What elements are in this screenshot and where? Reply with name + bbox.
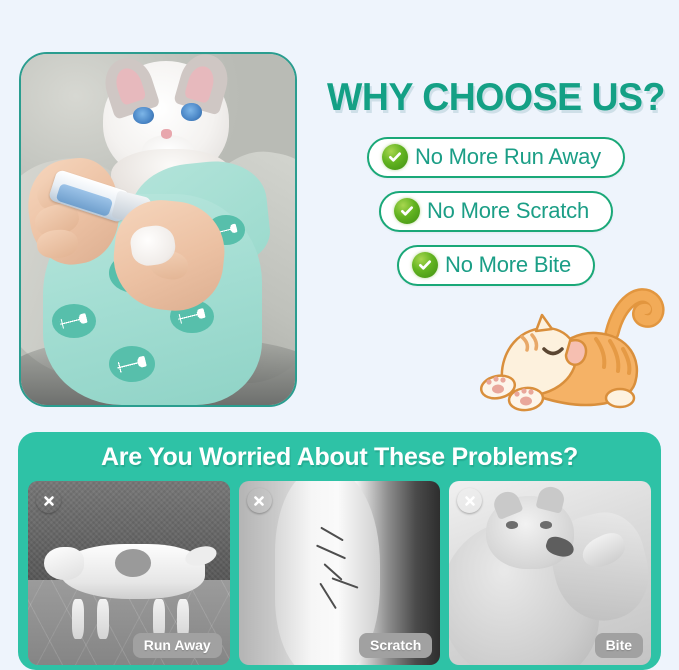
benefit-pill-scratch[interactable]: No More Scratch (379, 191, 613, 232)
hero-product-photo (19, 52, 297, 407)
benefit-label: No More Run Away (415, 144, 601, 170)
cat-eye-right (540, 521, 552, 528)
problem-label: Scratch (359, 633, 432, 658)
benefit-pill-run-away[interactable]: No More Run Away (367, 137, 625, 178)
problem-card-run-away[interactable]: Run Away (28, 481, 230, 665)
fishbone-print-dot (109, 346, 155, 382)
cat-fur-patch (115, 549, 151, 577)
problems-section: Are You Worried About These Problems? Ru… (18, 432, 661, 670)
cat-leg (97, 599, 109, 639)
cat-eye-right (181, 103, 202, 121)
check-circle-icon (382, 144, 408, 170)
benefit-label: No More Scratch (427, 198, 589, 224)
hero-photo-scene (21, 54, 295, 405)
stretching-cat-illustration (470, 275, 670, 425)
cat-leg (72, 599, 84, 639)
problem-label: Run Away (133, 633, 222, 658)
check-circle-icon (394, 198, 420, 224)
why-choose-us-section: WHY CHOOSE US? No More Run Away No More … (0, 0, 679, 428)
cat-head (44, 547, 84, 580)
cat-nose (161, 129, 172, 138)
problem-label: Bite (595, 633, 643, 658)
x-circle-icon (36, 488, 61, 513)
cat-eye-left (133, 107, 154, 125)
cat-eye-left (506, 521, 518, 528)
x-circle-icon (247, 488, 272, 513)
problem-card-bite[interactable]: Bite (449, 481, 651, 665)
page-title: WHY CHOOSE US? (325, 76, 667, 120)
problems-title: Are You Worried About These Problems? (28, 440, 651, 475)
check-circle-icon (412, 252, 438, 278)
fishbone-print-dot (52, 304, 96, 338)
benefit-list: No More Run Away No More Scratch No More… (318, 137, 674, 286)
problem-card-grid: Run Away Scratch (28, 481, 651, 665)
problem-card-scratch[interactable]: Scratch (239, 481, 441, 665)
